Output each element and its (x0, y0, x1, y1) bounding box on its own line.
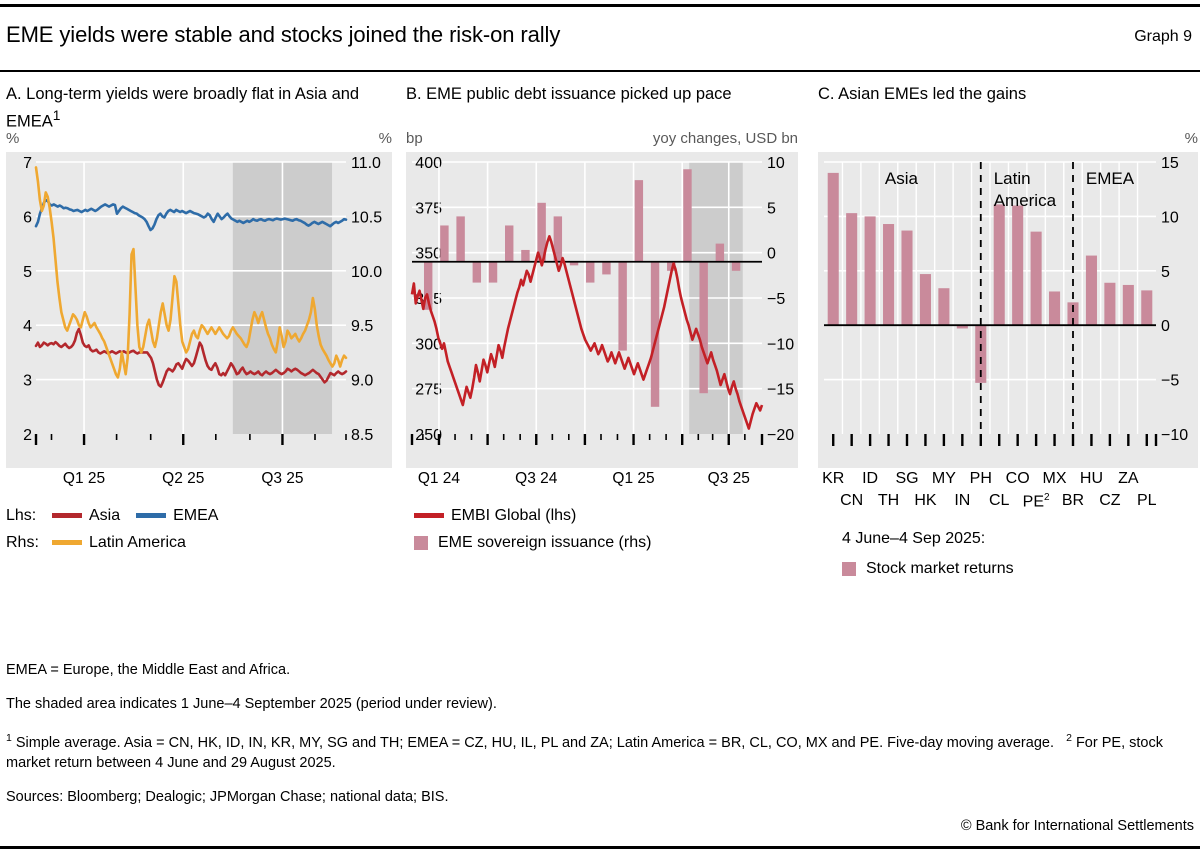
panel-c-xtick: BR (1062, 492, 1084, 510)
panel-a-svg: 28.539.049.5510.0610.5711.0 (6, 152, 392, 468)
svg-text:10: 10 (767, 155, 785, 172)
svg-text:America: America (994, 191, 1057, 210)
panel-b-units: bp yoy changes, USD bn (406, 130, 798, 152)
svg-text:5: 5 (767, 200, 776, 217)
svg-text:Asia: Asia (885, 169, 919, 188)
svg-text:EMEA: EMEA (1086, 169, 1135, 188)
panel-b: B. EME public debt issuance picked up pa… (406, 84, 798, 556)
panel-c-xtick: ID (862, 470, 878, 488)
panel-a-rhs-label: Rhs: (6, 534, 52, 552)
panel-c-legend-series: Stock market returns (842, 556, 1198, 582)
panel-a-xtick: Q2 25 (162, 470, 204, 488)
latam-swatch (52, 540, 82, 545)
emea-swatch (136, 513, 166, 518)
legend-latam-label: Latin America (89, 534, 186, 552)
note-emea: EMEA = Europe, the Middle East and Afric… (6, 660, 1196, 680)
note-sources: Sources: Bloomberg; Dealogic; JPMorgan C… (6, 787, 1196, 807)
panel-a-plot: 28.539.049.5510.0610.5711.0 (6, 152, 392, 468)
panel-a-unit-left: % (6, 130, 19, 147)
svg-text:5: 5 (23, 264, 32, 281)
panel-c-xlabels: KRCNIDTHSGHKMYINPHCLCOPE2MXBRHUCZZAPL (818, 468, 1198, 516)
panel-c-xtick: HK (914, 492, 936, 510)
panel-a-legend: Lhs: Asia EMEA Rhs: Latin America (6, 502, 392, 556)
legend-asia-label: Asia (89, 507, 120, 525)
svg-text:10.5: 10.5 (351, 209, 382, 226)
svg-text:15: 15 (1161, 155, 1179, 172)
svg-text:9.5: 9.5 (351, 318, 373, 335)
panel-c-legend-period: 4 June–4 Sep 2025: (842, 530, 1198, 556)
panel-a-lhs-label: Lhs: (6, 507, 52, 525)
panel-a-unit-right: % (379, 130, 392, 147)
panel-a-title: A. Long-term yields were broadly flat in… (6, 84, 392, 130)
panel-a-legend-lhs: Lhs: Asia EMEA (6, 502, 392, 529)
bottom-rule (0, 846, 1200, 849)
panel-b-legend: EMBI Global (lhs) EME sovereign issuance… (406, 502, 798, 556)
panel-b-xtick: Q3 25 (708, 470, 750, 488)
svg-text:−15: −15 (767, 382, 794, 399)
panel-b-title: B. EME public debt issuance picked up pa… (406, 84, 798, 130)
panel-a-units: % % (6, 130, 392, 152)
fn1-text: Simple average. Asia = CN, HK, ID, IN, K… (16, 735, 1054, 751)
panel-b-unit-right: yoy changes, USD bn (653, 130, 798, 147)
graph-page: EME yields were stable and stocks joined… (0, 0, 1200, 851)
svg-text:−10: −10 (1161, 427, 1188, 444)
legend-embi-label: EMBI Global (lhs) (451, 507, 576, 525)
panel-c-xtick: SG (895, 470, 918, 488)
panel-b-plot: 250−20275−15300−10325−53500375540010 (406, 152, 798, 468)
svg-text:−5: −5 (1161, 373, 1179, 390)
panel-a: A. Long-term yields were broadly flat in… (6, 84, 392, 556)
svg-text:275: 275 (415, 382, 442, 399)
copyright: © Bank for International Settlements (961, 818, 1194, 834)
panel-b-legend-line: EMBI Global (lhs) (406, 502, 798, 529)
panel-c-plot: −10−5051015AsiaLatinAmericaEMEA (818, 152, 1198, 468)
panel-c-xtick: MY (932, 470, 956, 488)
panel-c-units: % (818, 130, 1198, 152)
issuance-swatch (414, 536, 428, 550)
panel-b-legend-bars: EME sovereign issuance (rhs) (406, 529, 798, 556)
title-rule (0, 70, 1200, 72)
fn2-marker: 2 (1066, 732, 1072, 744)
panel-a-xtick: Q3 25 (261, 470, 303, 488)
panel-b-xtick: Q1 25 (612, 470, 654, 488)
panel-c-xtick: MX (1043, 470, 1067, 488)
panel-c-xtick: CO (1006, 470, 1030, 488)
legend-stock-returns-label: Stock market returns (866, 560, 1014, 578)
stock-returns-swatch (842, 562, 856, 576)
panel-c-xtick: TH (878, 492, 899, 510)
panel-b-xtick: Q1 24 (418, 470, 460, 488)
svg-text:2: 2 (23, 427, 32, 444)
panel-b-unit-left: bp (406, 130, 423, 147)
svg-text:375: 375 (415, 200, 442, 217)
panel-b-xlabels: Q1 24Q3 24Q1 25Q3 25 (406, 468, 798, 492)
panel-c-xtick: PL (1137, 492, 1157, 510)
note-shaded: The shaded area indicates 1 June–4 Septe… (6, 694, 1196, 714)
legend-issuance-label: EME sovereign issuance (rhs) (438, 534, 651, 552)
svg-text:5: 5 (1161, 264, 1170, 281)
svg-text:Latin: Latin (994, 169, 1031, 188)
panel-c-xtick: ZA (1118, 470, 1138, 488)
svg-text:0: 0 (767, 246, 776, 263)
svg-text:−20: −20 (767, 427, 794, 444)
panel-c-xtick: KR (822, 470, 844, 488)
legend-emea-label: EMEA (173, 507, 218, 525)
panel-c-xtick: CZ (1099, 492, 1120, 510)
panel-b-svg: 250−20275−15300−10325−53500375540010 (406, 152, 798, 468)
svg-text:6: 6 (23, 209, 32, 226)
svg-text:400: 400 (415, 155, 442, 172)
svg-text:−10: −10 (767, 336, 794, 353)
svg-text:0: 0 (1161, 318, 1170, 335)
embi-swatch (414, 513, 444, 518)
panel-c-xtick: CN (840, 492, 863, 510)
panel-c-unit-right: % (1185, 130, 1198, 147)
panel-c-xtick: IN (954, 492, 970, 510)
note-footnotes: 1 Simple average. Asia = CN, HK, ID, IN,… (6, 728, 1196, 773)
footnotes: EMEA = Europe, the Middle East and Afric… (6, 660, 1196, 821)
panel-c-title: C. Asian EMEs led the gains (818, 84, 1198, 130)
top-rule (0, 4, 1200, 7)
svg-text:9.0: 9.0 (351, 373, 373, 390)
panel-c: C. Asian EMEs led the gains % −10−505101… (818, 84, 1198, 582)
graph-number: Graph 9 (1134, 28, 1192, 46)
svg-text:350: 350 (415, 246, 442, 263)
panel-a-xtick: Q1 25 (63, 470, 105, 488)
panel-a-footnote-marker: 1 (53, 108, 61, 123)
asia-swatch (52, 513, 82, 518)
svg-text:3: 3 (23, 373, 32, 390)
panel-a-xlabels: Q1 25Q2 25Q3 25 (6, 468, 392, 492)
panel-c-xtick: PH (970, 470, 992, 488)
svg-text:7: 7 (23, 155, 32, 172)
panel-c-svg: −10−5051015AsiaLatinAmericaEMEA (818, 152, 1198, 468)
svg-text:11.0: 11.0 (351, 155, 381, 172)
svg-text:10.0: 10.0 (351, 264, 382, 281)
panel-c-xtick: CL (989, 492, 1009, 510)
panel-c-xtick: HU (1080, 470, 1103, 488)
panel-b-xtick: Q3 24 (515, 470, 557, 488)
panel-a-legend-rhs: Rhs: Latin America (6, 529, 392, 556)
svg-text:8.5: 8.5 (351, 427, 373, 444)
page-title: EME yields were stable and stocks joined… (6, 22, 560, 48)
fn1-marker: 1 (6, 732, 12, 744)
svg-text:−5: −5 (767, 291, 785, 308)
panel-c-legend: 4 June–4 Sep 2025: Stock market returns (842, 530, 1198, 582)
panel-c-xtick: PE2 (1023, 492, 1050, 511)
svg-text:10: 10 (1161, 209, 1179, 226)
svg-text:4: 4 (23, 318, 32, 335)
